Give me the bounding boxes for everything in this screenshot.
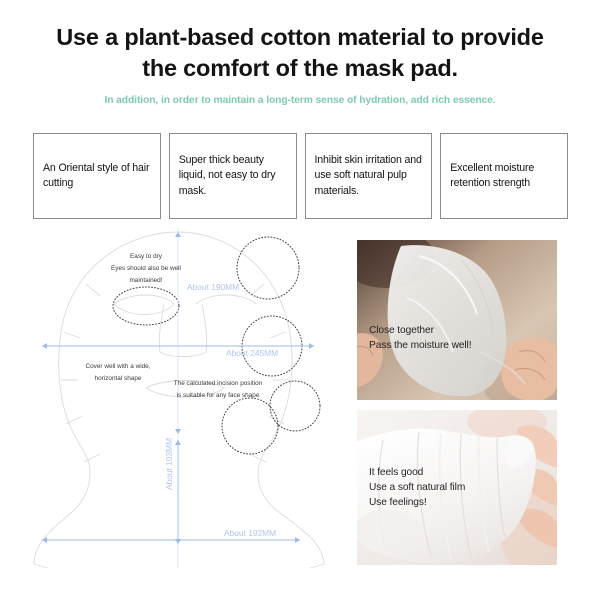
feature-box-3-text: Inhibit skin irritation and use soft nat…: [315, 153, 423, 198]
page-header: Use a plant-based cotton material to pro…: [0, 22, 600, 106]
photo-bottom-caption-line-3: Use feelings!: [369, 496, 465, 511]
photo-top-caption: Close together Pass the moisture well!: [369, 324, 471, 354]
page-title: Use a plant-based cotton material to pro…: [0, 22, 600, 85]
dimension-label-width-mid: About 245MM: [226, 348, 278, 358]
photo-top-caption-line-2: Pass the moisture well!: [369, 339, 471, 354]
feature-box-1-text: An Oriental style of hair cutting: [43, 161, 151, 191]
photo-top-caption-line-1: Close together: [369, 324, 471, 339]
photo-bottom-caption: It feels good Use a soft natural film Us…: [369, 466, 465, 510]
page-subtitle: In addition, in order to maintain a long…: [0, 95, 600, 106]
dimension-label-height-lower: About 103MM: [164, 438, 174, 490]
photo-sheet-mask-wet-art: [357, 240, 557, 400]
note-eye-line-2: Eyes should also be well: [111, 265, 181, 272]
note-cheek-line-1: Cover well with a wide,: [86, 363, 151, 370]
note-eye-line-3: maintained!: [129, 277, 162, 284]
photo-cotton-fabric: It feels good Use a soft natural film Us…: [357, 410, 557, 565]
dimension-label-width-upper: About 190MM: [187, 282, 239, 292]
feature-box-2-text: Super thick beauty liquid, not easy to d…: [179, 153, 287, 198]
photo-bottom-caption-line-2: Use a soft natural film: [369, 481, 465, 496]
note-eye-line-1: Easy to dry: [130, 253, 163, 260]
feature-box-4: Excellent moisture retention strength: [440, 133, 568, 219]
feature-box-1: An Oriental style of hair cutting: [33, 133, 161, 219]
note-cheek-line-2: horizontal shape: [95, 375, 142, 382]
feature-box-4-text: Excellent moisture retention strength: [450, 161, 558, 191]
feature-box-3: Inhibit skin irritation and use soft nat…: [305, 133, 433, 219]
mask-technical-drawing: About 190MM About 245MM About 192MM Abou…: [28, 228, 353, 568]
feature-box-row: An Oriental style of hair cutting Super …: [33, 133, 568, 219]
feature-box-2: Super thick beauty liquid, not easy to d…: [169, 133, 297, 219]
lower-content: About 190MM About 245MM About 192MM Abou…: [0, 228, 600, 583]
dimension-label-width-bottom: About 192MM: [224, 528, 276, 538]
note-incision-line-1: The calculated incision position: [174, 380, 263, 387]
photo-sheet-mask-wet: Close together Pass the moisture well!: [357, 240, 557, 400]
note-incision-line-2: is suitable for any face shape: [177, 392, 260, 399]
photo-bottom-caption-line-1: It feels good: [369, 466, 465, 481]
